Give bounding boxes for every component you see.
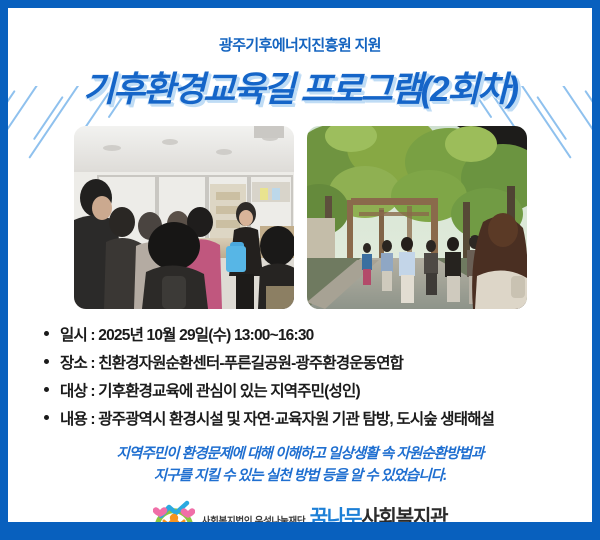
list-item: 일시 : 2025년 10월 29일(수) 13:00~16:30 [42, 323, 592, 345]
footer-logo: 사회복지법인 우성나눔재단 꿈나무사회복지관 [8, 500, 592, 522]
closing-note-line-1: 지역주민이 환경문제에 대해 이해하고 일상생활 속 자원순환방법과 [8, 443, 592, 465]
supporter-line: 광주기후에너지진흥원 지원 [8, 34, 592, 55]
list-item: 내용 : 광주광역시 환경시설 및 자연·교육자원 기관 탐방, 도시숲 생태해… [42, 407, 592, 429]
footer-logo-text: 사회복지법인 우성나눔재단 꿈나무사회복지관 [202, 508, 448, 522]
poster-frame: 광주기후에너지진흥원 지원 기후환경교육길 프로그램(2회차) [0, 0, 600, 540]
photo-park-walk [307, 126, 527, 309]
closing-note: 지역주민이 환경문제에 대해 이해하고 일상생활 속 자원순환방법과 지구를 지… [8, 443, 592, 488]
list-item: 장소 : 친환경자원순환센터-푸른길공원-광주환경운동연합 [42, 351, 592, 373]
page-title: 기후환경교육길 프로그램(2회차) [8, 61, 592, 112]
photo-indoor-tour [74, 126, 294, 309]
dream-tree-figure-icon [153, 500, 195, 522]
poster-canvas: 광주기후에너지진흥원 지원 기후환경교육길 프로그램(2회차) [8, 8, 592, 522]
closing-note-line-2: 지구를 지킬 수 있는 실천 방법 등을 알 수 있었습니다. [8, 465, 592, 487]
photo-gallery [8, 126, 592, 309]
footer-brand: 꿈나무사회복지관 [310, 507, 448, 522]
footer-brand-rest: 사회복지관 [361, 507, 447, 522]
footer-organization-line: 사회복지법인 우성나눔재단 [202, 516, 306, 522]
footer-brand-highlight: 꿈나무 [310, 507, 362, 522]
program-details-list: 일시 : 2025년 10월 29일(수) 13:00~16:30 장소 : 친… [42, 323, 592, 429]
list-item: 대상 : 기후환경교육에 관심이 있는 지역주민(성인) [42, 379, 592, 401]
